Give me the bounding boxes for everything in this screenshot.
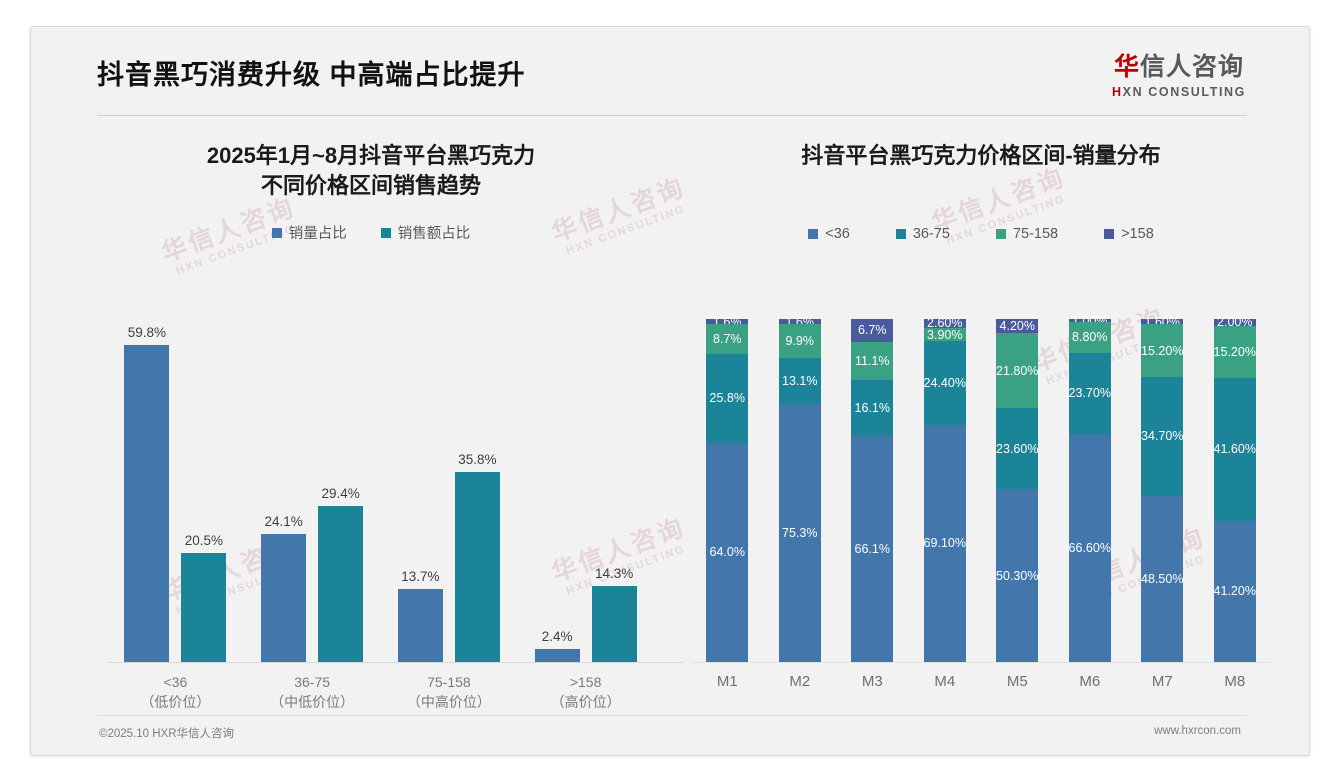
footer-copyright: ©2025.10 HXR华信人咨询 [99,725,234,741]
brand-logo: 华信人咨询 HXN CONSULTING [1089,55,1269,99]
stack-segment-value-label: 41.20% [1214,584,1256,598]
stack-segment-value-label: 16.1% [855,401,890,415]
stacked-bar-M7[interactable]: 1.60%15.20%34.70%48.50% [1141,319,1183,662]
bar-value-label: 35.8% [458,452,496,467]
stack-segment-value-label: 15.20% [1141,344,1183,358]
right-chart-panel: 抖音平台黑巧克力价格区间-销量分布 <3636-7575-158>158 1.6… [681,123,1281,698]
logo-cn-accent: 华 [1114,53,1140,81]
right-chart-title: 抖音平台黑巧克力价格区间-销量分布 [681,141,1281,171]
x-tick-M5: M5 [981,673,1054,690]
stack-segment-M5-75-158[interactable]: 21.80% [996,333,1038,408]
stack-segment-M2-75-158[interactable]: 9.9% [779,324,821,358]
stack-segment-value-label: 69.10% [924,536,966,550]
x-tick->158: >158（高价位） [517,672,654,713]
stack-segment-M8->158[interactable]: 2.00% [1214,319,1256,326]
stack-segment-value-label: 23.70% [1069,386,1111,400]
stack-segment-M6-<36[interactable]: 66.60% [1069,434,1111,662]
left-legend-item-1[interactable]: 销售额占比 [381,222,471,243]
bar-value-label: 20.5% [185,533,223,548]
legend-label: 销量占比 [289,222,347,243]
x-tick-M4: M4 [909,673,982,690]
x-tick-sub: （中高价位） [381,692,518,712]
stack-cell-M3: 6.7%11.1%16.1%66.1% [836,319,909,662]
stack-segment-M7-<36[interactable]: 48.50% [1141,496,1183,662]
stacked-bar-M8[interactable]: 2.00%15.20%41.60%41.20% [1214,319,1256,662]
bar-<36-销售额占比[interactable]: 20.5% [181,553,226,662]
right-stacked-bar-chart: 1.6%8.7%25.8%64.0%1.6%9.9%13.1%75.3%6.7%… [691,293,1271,663]
legend-label: >158 [1121,226,1154,242]
stacked-bar-M1[interactable]: 1.6%8.7%25.8%64.0% [706,319,748,662]
legend-swatch-icon [808,229,818,239]
left-chart-plot-area: 59.8%20.5%24.1%29.4%13.7%35.8%2.4%14.3% [107,317,654,662]
x-tick-main: 36-75 [244,672,381,692]
bar-75-158-销售额占比[interactable]: 35.8% [455,472,500,662]
right-chart-plot-area: 1.6%8.7%25.8%64.0%1.6%9.9%13.1%75.3%6.7%… [691,319,1271,662]
stack-segment-M5-36-75[interactable]: 23.60% [996,408,1038,489]
x-tick-main: <36 [107,672,244,692]
legend-swatch-icon [272,228,282,238]
logo-en-accent: H [1112,85,1123,99]
stack-cell-M1: 1.6%8.7%25.8%64.0% [691,319,764,662]
bar-value-label: 29.4% [321,486,359,501]
stack-segment-M4-36-75[interactable]: 24.40% [924,341,966,425]
stack-segment-M1-<36[interactable]: 64.0% [706,443,748,662]
logo-english-text: HXN CONSULTING [1089,85,1269,99]
stack-segment-value-label: 21.80% [996,364,1038,378]
stack-cell-M7: 1.60%15.20%34.70%48.50% [1126,319,1199,662]
left-chart-title-line2: 不同价格区间销售趋势 [71,171,671,201]
stack-segment-M4->158[interactable]: 2.60% [924,319,966,328]
right-legend-item-0[interactable]: <36 [808,226,850,242]
left-chart-x-axis [107,662,684,663]
right-legend-item-1[interactable]: 36-75 [896,226,950,242]
bar-value-label: 14.3% [595,566,633,581]
legend-swatch-icon [381,228,391,238]
legend-swatch-icon [1104,229,1114,239]
bar-<36-销量占比[interactable]: 59.8% [124,345,169,662]
bar-value-label: 24.1% [264,514,302,529]
legend-label: 销售额占比 [398,222,471,243]
stack-segment-value-label: 34.70% [1141,429,1183,443]
left-chart-panel: 2025年1月~8月抖音平台黑巧克力 不同价格区间销售趋势 销量占比销售额占比 … [71,123,671,698]
legend-swatch-icon [996,229,1006,239]
stack-segment-value-label: 9.9% [786,334,815,348]
stack-segment-M2-<36[interactable]: 75.3% [779,403,821,662]
left-chart-legend: 销量占比销售额占比 [71,222,671,243]
stack-segment-M4-<36[interactable]: 69.10% [924,425,966,662]
bar-value-label: 13.7% [401,569,439,584]
right-legend-item-3[interactable]: >158 [1104,226,1154,242]
stack-segment-value-label: 4.20% [1000,319,1035,333]
footer-divider [97,715,1247,716]
left-chart-title-line1: 2025年1月~8月抖音平台黑巧克力 [71,141,671,171]
stack-segment-M8-36-75[interactable]: 41.60% [1214,378,1256,521]
stack-segment-value-label: 8.7% [713,332,742,346]
stack-segment-value-label: 13.1% [782,374,817,388]
x-tick-75-158: 75-158（中高价位） [381,672,518,713]
stack-segment-value-label: 66.60% [1069,541,1111,555]
stack-segment-M7-36-75[interactable]: 34.70% [1141,377,1183,496]
left-chart-x-tick-labels: <36（低价位）36-75（中低价位）75-158（中高价位）>158（高价位） [107,672,654,713]
stack-segment-value-label: 23.60% [996,442,1038,456]
bar->158-销量占比[interactable]: 2.4% [535,649,580,662]
legend-label: 75-158 [1013,226,1058,242]
stack-segment-value-label: 25.8% [710,391,745,405]
stacked-bar-M4[interactable]: 2.60%3.90%24.40%69.10% [924,319,966,662]
stack-segment-value-label: 75.3% [782,526,817,540]
stack-segment-M3-36-75[interactable]: 16.1% [851,380,893,435]
x-tick-M6: M6 [1054,673,1127,690]
stack-segment-value-label: 6.7% [858,323,887,337]
right-chart-legend: <3636-7575-158>158 [681,226,1281,242]
legend-swatch-icon [896,229,906,239]
bar-36-75-销量占比[interactable]: 24.1% [261,534,306,662]
bar-group-36-75: 24.1%29.4% [244,317,381,662]
left-chart-title: 2025年1月~8月抖音平台黑巧克力 不同价格区间销售趋势 [71,141,671,200]
stack-cell-M6: 1.00%8.80%23.70%66.60% [1054,319,1127,662]
stack-segment-value-label: 3.90% [927,328,962,342]
bar->158-销售额占比[interactable]: 14.3% [592,586,637,662]
stack-segment-M8-<36[interactable]: 41.20% [1214,521,1256,662]
stack-segment-value-label: 8.80% [1072,330,1107,344]
x-tick-M3: M3 [836,673,909,690]
stacked-bar-M6[interactable]: 1.00%8.80%23.70%66.60% [1069,319,1111,662]
stack-cell-M8: 2.00%15.20%41.60%41.20% [1199,319,1272,662]
logo-cn-rest: 信人咨询 [1140,53,1244,81]
stack-segment-M2-36-75[interactable]: 13.1% [779,358,821,403]
stack-segment-M8-75-158[interactable]: 15.20% [1214,326,1256,378]
stack-segment-M3-<36[interactable]: 66.1% [851,435,893,662]
stacked-bar-M5[interactable]: 4.20%21.80%23.60%50.30% [996,319,1038,662]
stack-segment-M6-75-158[interactable]: 8.80% [1069,322,1111,352]
footer-website: www.hxrcon.com [1154,725,1241,737]
x-tick-M2: M2 [764,673,837,690]
left-grouped-bar-chart: 59.8%20.5%24.1%29.4%13.7%35.8%2.4%14.3% … [89,293,654,663]
page-title: 抖音黑巧消费升级 中高端占比提升 [97,53,526,92]
bar-value-label: 2.4% [542,629,573,644]
x-tick-M1: M1 [691,673,764,690]
stack-segment-M3-75-158[interactable]: 11.1% [851,342,893,380]
stack-segment-value-label: 48.50% [1141,572,1183,586]
bar-group-<36: 59.8%20.5% [107,317,244,662]
stack-cell-M5: 4.20%21.80%23.60%50.30% [981,319,1054,662]
stack-segment-value-label: 50.30% [996,569,1038,583]
stack-cell-M2: 1.6%9.9%13.1%75.3% [764,319,837,662]
bar-group->158: 2.4%14.3% [517,317,654,662]
stack-segment-M3->158[interactable]: 6.7% [851,319,893,342]
bar-group-75-158: 13.7%35.8% [381,317,518,662]
logo-en-rest: XN CONSULTING [1123,85,1246,99]
stacked-bar-M3[interactable]: 6.7%11.1%16.1%66.1% [851,319,893,662]
stack-segment-M5-<36[interactable]: 50.30% [996,489,1038,662]
legend-label: <36 [825,226,850,242]
legend-label: 36-75 [913,226,950,242]
left-legend-item-0[interactable]: 销量占比 [272,222,347,243]
x-tick-main: >158 [517,672,654,692]
stack-segment-M6-36-75[interactable]: 23.70% [1069,353,1111,434]
bar-75-158-销量占比[interactable]: 13.7% [398,589,443,662]
stack-segment-M4-75-158[interactable]: 3.90% [924,328,966,341]
x-tick-sub: （低价位） [107,692,244,712]
slide-header: 抖音黑巧消费升级 中高端占比提升 华信人咨询 HXN CONSULTING [31,27,1309,115]
right-chart-x-axis [691,662,1271,663]
stack-segment-value-label: 24.40% [924,376,966,390]
stack-segment-M7-75-158[interactable]: 15.20% [1141,324,1183,376]
x-tick-36-75: 36-75（中低价位） [244,672,381,713]
stack-segment-M5->158[interactable]: 4.20% [996,319,1038,333]
right-legend-item-2[interactable]: 75-158 [996,226,1058,242]
x-tick-M8: M8 [1199,673,1272,690]
stacked-bar-M2[interactable]: 1.6%9.9%13.1%75.3% [779,319,821,662]
x-tick-main: 75-158 [381,672,518,692]
stack-segment-value-label: 11.1% [855,354,890,368]
bar-value-label: 59.8% [128,325,166,340]
x-tick-<36: <36（低价位） [107,672,244,713]
x-tick-sub: （高价位） [517,692,654,712]
bar-36-75-销售额占比[interactable]: 29.4% [318,506,363,662]
x-tick-sub: （中低价位） [244,692,381,712]
stack-segment-value-label: 64.0% [710,545,745,559]
x-tick-M7: M7 [1126,673,1199,690]
stack-segment-M1-36-75[interactable]: 25.8% [706,354,748,442]
header-divider [97,115,1247,116]
stack-cell-M4: 2.60%3.90%24.40%69.10% [909,319,982,662]
stack-segment-value-label: 66.1% [855,542,890,556]
right-chart-x-tick-labels: M1M2M3M4M5M6M7M8 [691,673,1271,690]
logo-chinese-text: 华信人咨询 [1089,55,1269,80]
stack-segment-value-label: 41.60% [1214,442,1256,456]
stack-segment-value-label: 15.20% [1214,345,1256,359]
stack-segment-M1-75-158[interactable]: 8.7% [706,324,748,354]
slide: 华信人咨询 HXN CONSULTING 华信人咨询 HXN CONSULTIN… [30,26,1310,756]
